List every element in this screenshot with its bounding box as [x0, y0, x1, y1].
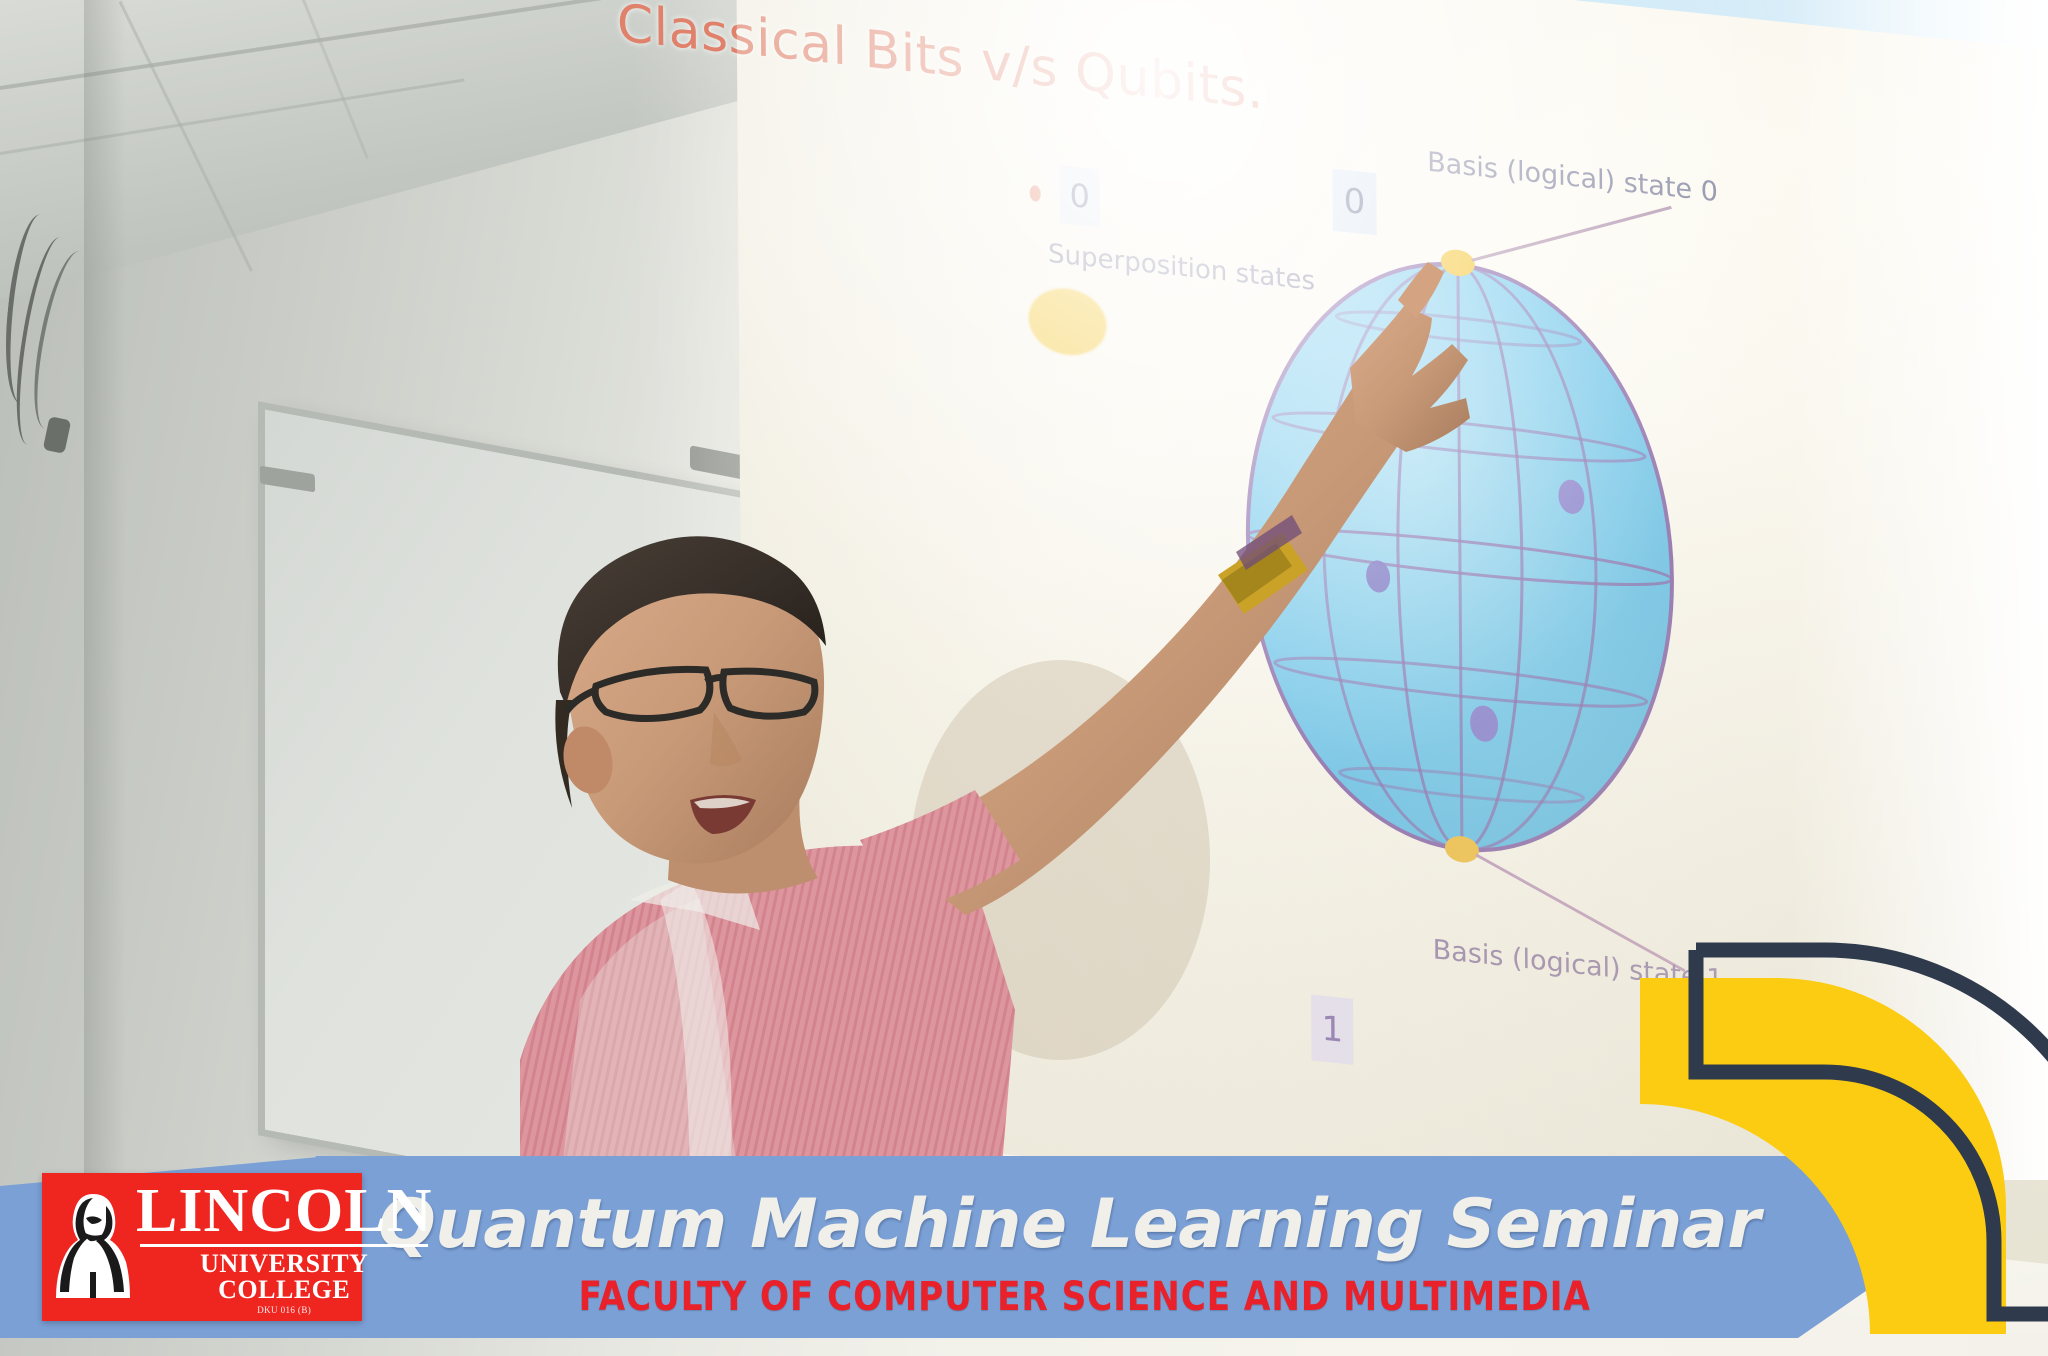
whiteboard: [265, 410, 755, 1221]
classical-bit-dot: [1030, 185, 1041, 202]
lincoln-bust-icon: [50, 1188, 136, 1306]
screenshot-canvas: Classical Bits v/s Qubits.: [0, 0, 2048, 1356]
wall-corner-shadow: [84, 0, 126, 1180]
logo-registration-code: DKU 016 (B): [136, 1306, 432, 1315]
arc-logo-mark: [1618, 936, 2048, 1356]
logo-wordmark: LINCOLN UNIVERSITY COLLEGE DKU 016 (B): [136, 1180, 442, 1315]
chip-state-zero-top: 0: [1332, 169, 1376, 236]
label-basis-state-0: Basis (logical) state 0: [1427, 147, 1718, 209]
logo-subtext: UNIVERSITY COLLEGE: [136, 1251, 432, 1303]
classical-bit-disc: [1028, 285, 1106, 359]
lincoln-university-college-logo: LINCOLN UNIVERSITY COLLEGE DKU 016 (B): [42, 1173, 362, 1321]
logo-word-lincoln: LINCOLN: [136, 1180, 432, 1242]
banner-subtitle: FACULTY OF COMPUTER SCIENCE AND MULTIMED…: [579, 1274, 1591, 1320]
banner-title: Quantum Machine Learning Seminar: [378, 1185, 1760, 1264]
chip-state-zero-left: 0: [1059, 165, 1099, 227]
chip-state-one-bottom: 1: [1311, 994, 1353, 1064]
bloch-sphere-diagram: [1228, 233, 1692, 882]
